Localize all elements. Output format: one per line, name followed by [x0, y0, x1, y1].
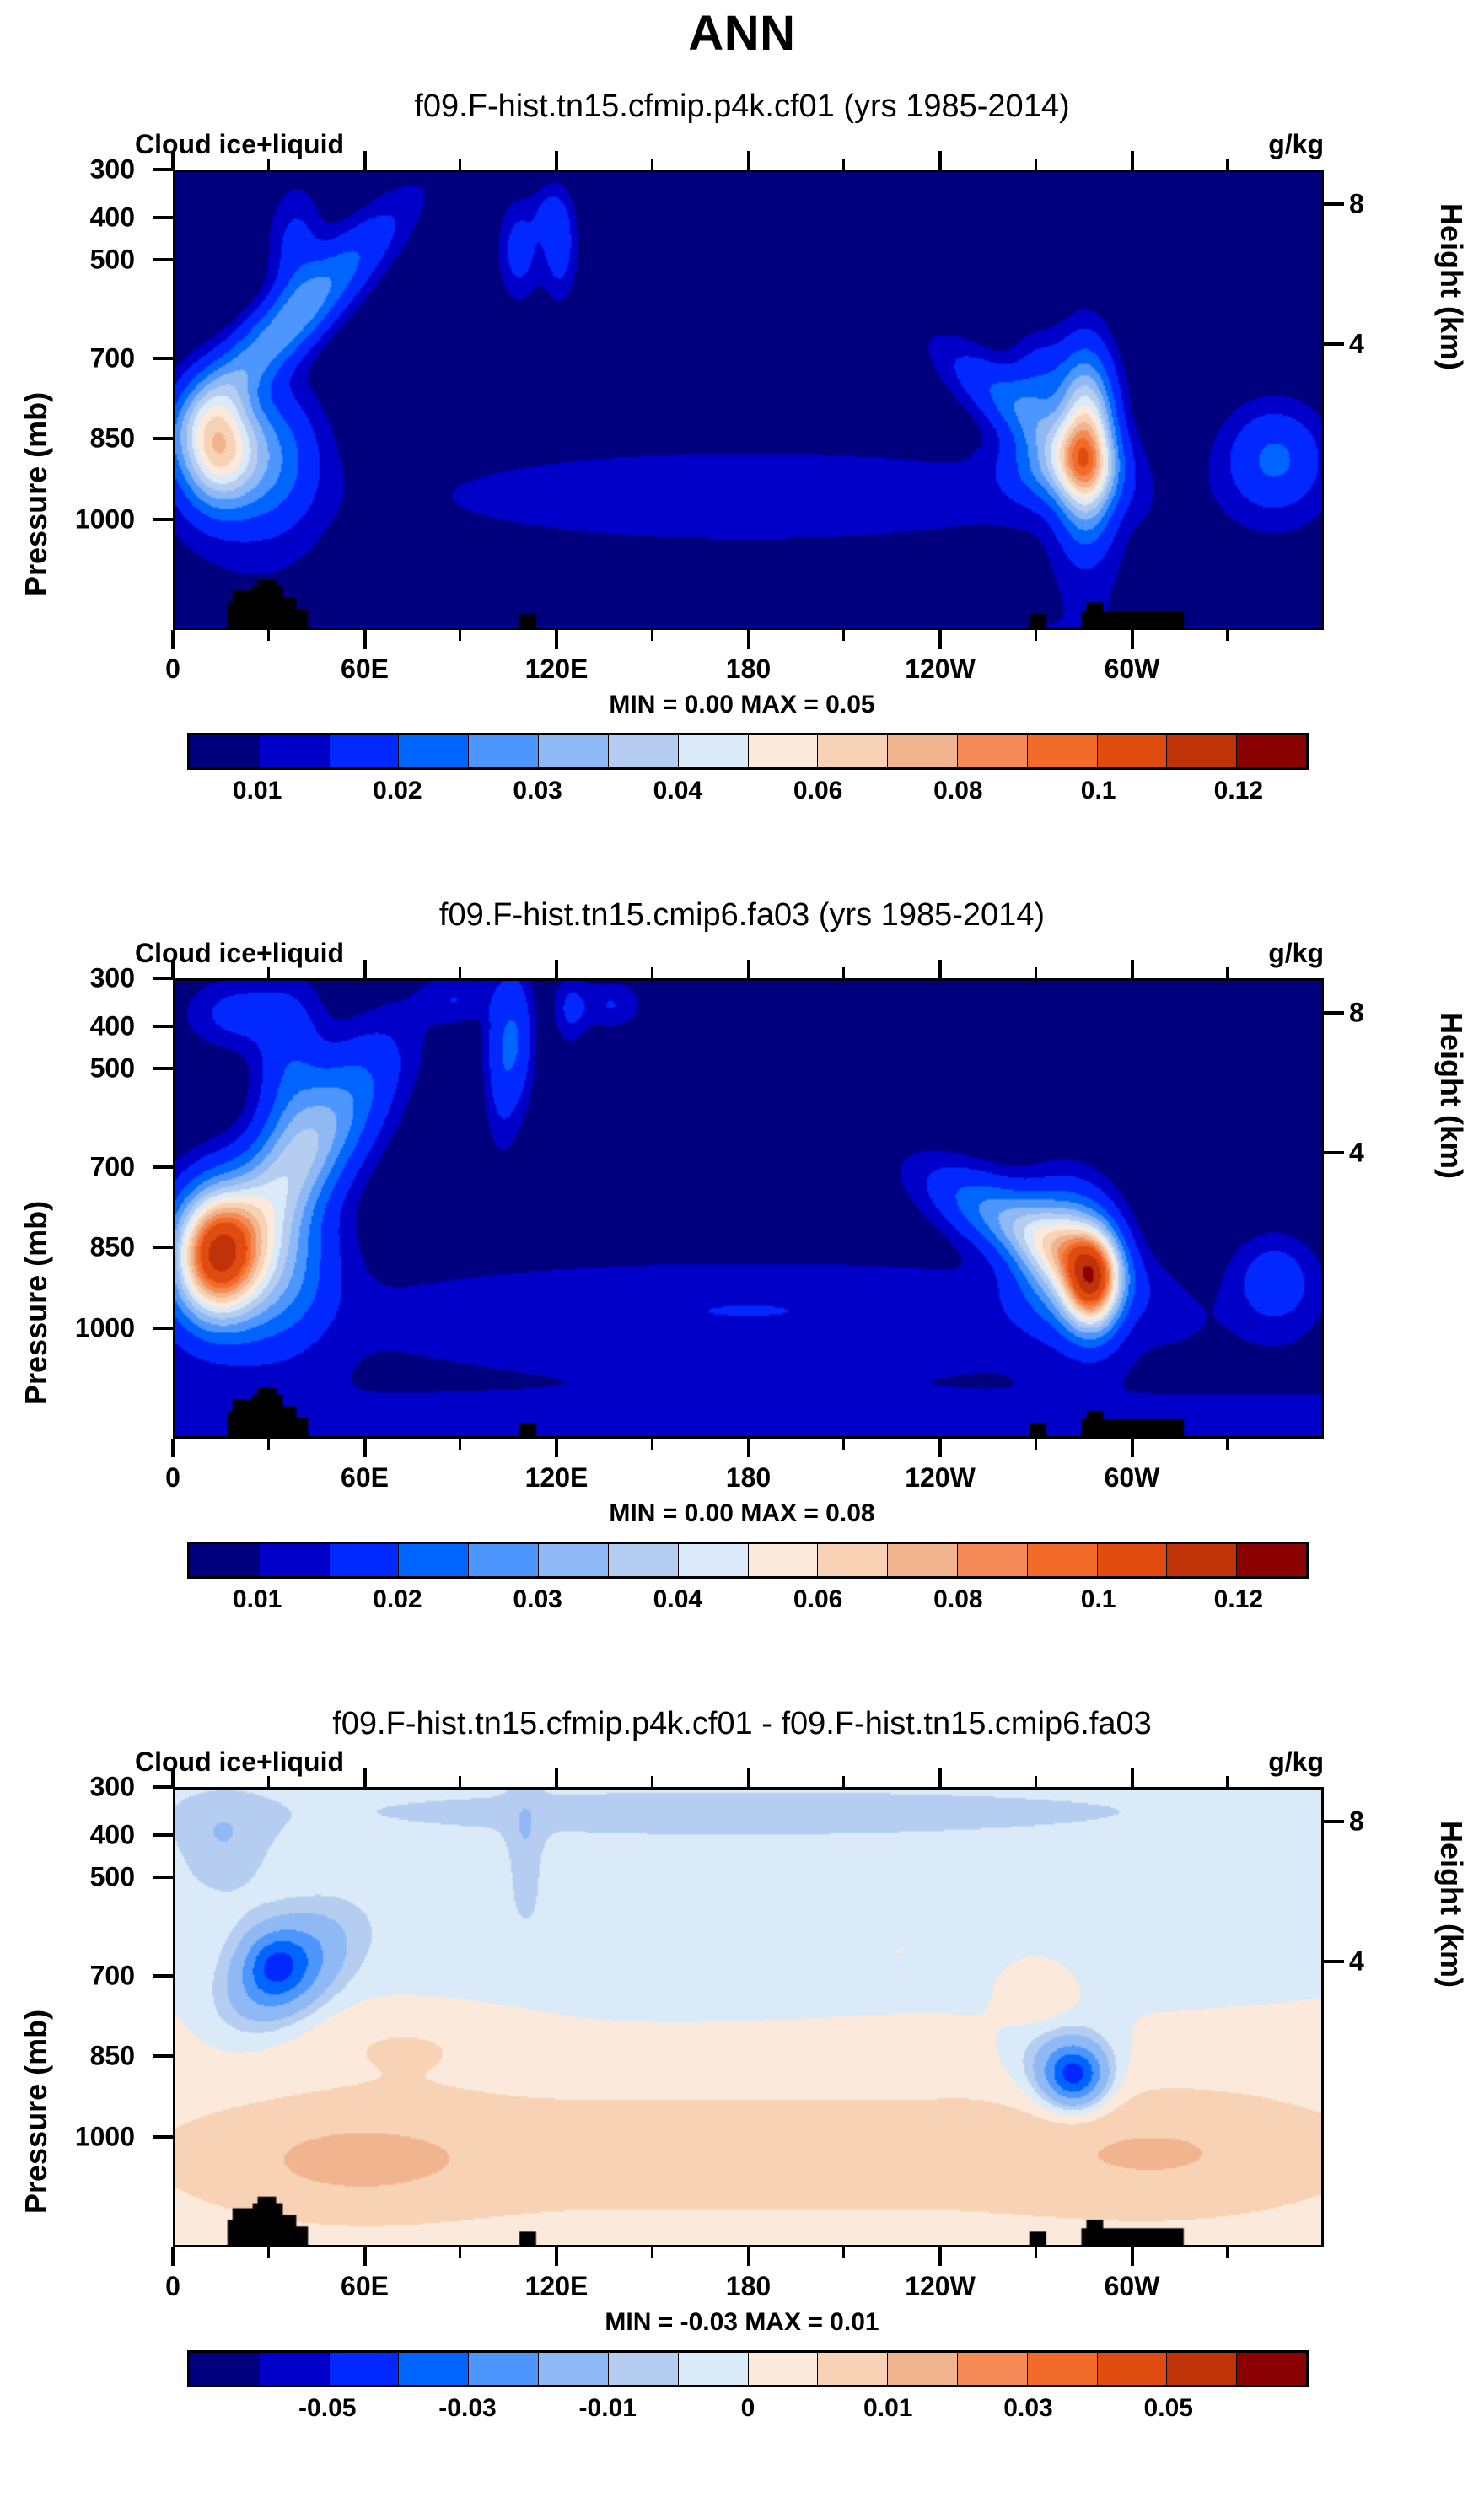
colorbar-tick-label: -0.01: [579, 2394, 637, 2423]
y2-tick-mark: [1324, 1151, 1344, 1154]
contour-plot: [173, 1787, 1324, 2247]
x-tick-mark: [938, 630, 942, 649]
y2-tick-mark: [1324, 1011, 1344, 1015]
y2-tick-mark: [1324, 202, 1344, 206]
x-tick-label: 180: [726, 654, 771, 685]
colorbar-segment: [1237, 1544, 1306, 1576]
y-tick-mark: [153, 1876, 173, 1879]
x-minor-tick-mark: [842, 630, 845, 641]
x-minor-tick-mark-top: [267, 159, 270, 170]
x-minor-tick-mark-top: [842, 159, 845, 170]
x-tick-label: 60W: [1105, 1462, 1160, 1493]
x-minor-tick-mark-top: [651, 967, 653, 978]
x-tick-label: 120W: [905, 2271, 976, 2302]
colorbar-segment: [1028, 2353, 1098, 2385]
colorbar-segment: [818, 735, 888, 767]
x-minor-tick-mark-top: [651, 1776, 653, 1787]
colorbar-segment: [1098, 735, 1168, 767]
colorbar-segment: [330, 2353, 400, 2385]
colorbar-segment: [958, 735, 1028, 767]
y-tick-label: 300: [34, 154, 135, 186]
x-tick-mark: [1131, 1439, 1134, 1457]
colorbar-tick-label: 0.06: [793, 777, 842, 805]
y-tick-mark: [153, 168, 173, 171]
colorbar-segment: [609, 2353, 679, 2385]
y-tick-label: 1000: [34, 1312, 135, 1343]
y-tick-mark: [153, 1833, 173, 1837]
y-tick-label: 850: [34, 2041, 135, 2072]
x-minor-tick-mark: [1035, 2247, 1037, 2258]
y2-tick-label: 4: [1349, 1138, 1450, 1169]
colorbar-segment: [958, 2353, 1028, 2385]
x-minor-tick-mark: [842, 2247, 845, 2258]
x-tick-label: 120E: [525, 1462, 589, 1493]
colorbar-segment: [399, 1544, 469, 1576]
x-minor-tick-mark: [267, 1439, 270, 1450]
y-tick-label: 1000: [34, 2121, 135, 2152]
x-tick-mark-top: [171, 960, 175, 978]
panel-title: f09.F-hist.tn15.cfmip.p4k.cf01 (yrs 1985…: [0, 89, 1484, 125]
colorbar-tick-label: 0.05: [1144, 2394, 1193, 2423]
x-minor-tick-mark: [267, 2247, 270, 2258]
colorbar-segment: [1237, 735, 1306, 767]
y-tick-label: 400: [34, 202, 135, 234]
y-tick-label: 500: [34, 1053, 135, 1084]
x-tick-label: 60E: [341, 654, 389, 685]
colorbar-tick-label: 0.12: [1214, 1585, 1263, 1614]
y-tick-label: 300: [34, 963, 135, 994]
y2-axis-title: Height (km): [1433, 1821, 1469, 2214]
colorbar-segment: [749, 2353, 819, 2385]
x-minor-tick-mark: [651, 630, 653, 641]
x-minor-tick-mark: [1226, 2247, 1229, 2258]
colorbar-segment: [469, 2353, 539, 2385]
x-minor-tick-mark: [651, 2247, 653, 2258]
y-tick-mark: [153, 1067, 173, 1070]
units-label: g/kg: [953, 938, 1324, 969]
x-tick-mark-top: [171, 151, 175, 170]
colorbar-tick-label: 0: [741, 2394, 755, 2423]
x-tick-mark-top: [1131, 1768, 1134, 1787]
x-tick-mark-top: [171, 1768, 175, 1787]
contour-plot: [173, 170, 1324, 630]
x-tick-mark: [555, 630, 558, 649]
colorbar-segment: [399, 2353, 469, 2385]
x-tick-mark: [1131, 2247, 1134, 2266]
colorbar-segment: [190, 1544, 260, 1576]
colorbar-segment: [1237, 2353, 1306, 2385]
colorbar-tick-label: 0.04: [653, 777, 702, 805]
colorbar-segment: [260, 2353, 330, 2385]
x-tick-label: 120W: [905, 1462, 976, 1493]
colorbar-tick-label: 0.08: [933, 777, 982, 805]
x-tick-mark-top: [938, 1768, 942, 1787]
x-tick-mark: [555, 1439, 558, 1457]
x-tick-label: 60W: [1105, 2271, 1160, 2302]
units-label: g/kg: [953, 129, 1324, 160]
x-minor-tick-mark-top: [459, 159, 461, 170]
x-minor-tick-mark: [1226, 1439, 1229, 1450]
colorbar-segment: [1028, 1544, 1098, 1576]
colorbar-segment: [679, 2353, 749, 2385]
y-tick-label: 850: [34, 423, 135, 455]
x-tick-label: 120E: [525, 2271, 589, 2302]
x-minor-tick-mark-top: [459, 967, 461, 978]
y-tick-mark: [153, 437, 173, 440]
colorbar-segment: [260, 1544, 330, 1576]
y-tick-mark: [153, 1327, 173, 1330]
colorbar: [187, 2350, 1309, 2387]
x-minor-tick-mark-top: [651, 159, 653, 170]
colorbar-tick-label: 0.01: [863, 2394, 912, 2423]
variable-label: Cloud ice+liquid: [135, 129, 344, 160]
y-tick-mark: [153, 977, 173, 980]
colorbar-tick-label: 0.02: [373, 777, 422, 805]
y2-tick-label: 4: [1349, 329, 1450, 360]
y-tick-mark: [153, 1246, 173, 1249]
colorbar-tick-label: 0.1: [1081, 777, 1116, 805]
colorbar-tick-label: 0.04: [653, 1585, 702, 1614]
colorbar-tick-label: 0.03: [1003, 2394, 1052, 2423]
colorbar-segment: [330, 1544, 400, 1576]
x-minor-tick-mark: [842, 1439, 845, 1450]
x-minor-tick-mark: [459, 1439, 461, 1450]
colorbar-segment: [1028, 735, 1098, 767]
x-tick-mark: [1131, 630, 1134, 649]
x-minor-tick-mark-top: [842, 967, 845, 978]
colorbar-segment: [469, 735, 539, 767]
colorbar-tick-label: 0.08: [933, 1585, 982, 1614]
x-tick-mark: [363, 2247, 367, 2266]
x-tick-mark: [171, 1439, 175, 1457]
x-tick-mark: [171, 630, 175, 649]
main-title: ANN: [0, 5, 1484, 62]
x-tick-label: 60E: [341, 1462, 389, 1493]
contour-canvas: [175, 1790, 1321, 2245]
x-tick-mark: [363, 1439, 367, 1457]
y-tick-mark: [153, 1165, 173, 1169]
y-tick-label: 500: [34, 1862, 135, 1893]
panel-title: f09.F-hist.tn15.cfmip.p4k.cf01 - f09.F-h…: [0, 1706, 1484, 1742]
y2-tick-mark: [1324, 1820, 1344, 1823]
y-tick-mark: [153, 2135, 173, 2139]
x-minor-tick-mark-top: [1035, 159, 1037, 170]
colorbar-segment: [888, 735, 958, 767]
y2-tick-label: 4: [1349, 1946, 1450, 1978]
y-tick-label: 1000: [34, 503, 135, 535]
x-minor-tick-mark-top: [1226, 1776, 1229, 1787]
minmax-label: MIN = 0.00 MAX = 0.05: [0, 691, 1484, 719]
x-tick-mark-top: [938, 960, 942, 978]
colorbar-segment: [330, 735, 400, 767]
colorbar-segment: [260, 735, 330, 767]
colorbar-segment: [190, 2353, 260, 2385]
y2-tick-label: 8: [1349, 188, 1450, 219]
y-tick-mark: [153, 357, 173, 360]
panel-title: f09.F-hist.tn15.cmip6.fa03 (yrs 1985-201…: [0, 897, 1484, 934]
colorbar-segment: [609, 1544, 679, 1576]
x-minor-tick-mark-top: [267, 1776, 270, 1787]
contour-canvas: [175, 172, 1321, 627]
contour-plot: [173, 978, 1324, 1439]
y-tick-label: 850: [34, 1232, 135, 1263]
x-minor-tick-mark: [1035, 1439, 1037, 1450]
colorbar-segment: [818, 1544, 888, 1576]
x-tick-label: 0: [165, 1462, 180, 1493]
y-tick-mark: [153, 258, 173, 261]
colorbar-tick-label: 0.02: [373, 1585, 422, 1614]
colorbar-segment: [1167, 1544, 1237, 1576]
x-tick-label: 60E: [341, 2271, 389, 2302]
x-minor-tick-mark: [459, 2247, 461, 2258]
x-tick-mark: [938, 1439, 942, 1457]
colorbar-segment: [1098, 1544, 1168, 1576]
colorbar-segment: [1167, 2353, 1237, 2385]
x-minor-tick-mark: [1226, 630, 1229, 641]
colorbar-segment: [958, 1544, 1028, 1576]
colorbar-tick-label: -0.03: [438, 2394, 496, 2423]
y-tick-mark: [153, 1785, 173, 1789]
x-minor-tick-mark: [651, 1439, 653, 1450]
x-tick-mark: [747, 630, 750, 649]
colorbar-segment: [679, 735, 749, 767]
x-minor-tick-mark-top: [459, 1776, 461, 1787]
x-tick-mark-top: [555, 1768, 558, 1787]
variable-label: Cloud ice+liquid: [135, 1746, 344, 1778]
colorbar-segment: [749, 735, 819, 767]
colorbar-segment: [749, 1544, 819, 1576]
colorbar-segment: [469, 1544, 539, 1576]
x-tick-mark-top: [747, 960, 750, 978]
x-minor-tick-mark-top: [1035, 967, 1037, 978]
x-tick-mark: [363, 630, 367, 649]
colorbar-segment: [190, 735, 260, 767]
colorbar-segment: [1098, 2353, 1168, 2385]
y2-axis-title: Height (km): [1433, 1012, 1469, 1405]
x-tick-label: 0: [165, 2271, 180, 2302]
y-tick-label: 700: [34, 1151, 135, 1182]
x-tick-mark-top: [555, 960, 558, 978]
colorbar-tick-label: 0.03: [513, 777, 562, 805]
colorbar-segment: [679, 1544, 749, 1576]
x-minor-tick-mark-top: [267, 967, 270, 978]
y-tick-label: 700: [34, 1960, 135, 1991]
x-tick-mark-top: [938, 151, 942, 170]
colorbar-segment: [818, 2353, 888, 2385]
x-tick-mark-top: [747, 151, 750, 170]
x-minor-tick-mark: [1035, 630, 1037, 641]
y-tick-label: 400: [34, 1820, 135, 1851]
y-tick-label: 700: [34, 342, 135, 374]
y2-tick-mark: [1324, 342, 1344, 346]
x-tick-mark-top: [1131, 151, 1134, 170]
x-tick-label: 60W: [1105, 654, 1160, 685]
y-tick-label: 300: [34, 1772, 135, 1803]
x-minor-tick-mark-top: [1035, 1776, 1037, 1787]
contour-canvas: [175, 981, 1321, 1436]
colorbar-tick-label: 0.01: [233, 1585, 282, 1614]
y2-tick-mark: [1324, 1960, 1344, 1963]
x-minor-tick-mark-top: [1226, 159, 1229, 170]
y-tick-label: 400: [34, 1011, 135, 1042]
units-label: g/kg: [953, 1746, 1324, 1778]
colorbar-tick-label: 0.03: [513, 1585, 562, 1614]
colorbar-tick-label: 0.06: [793, 1585, 842, 1614]
minmax-label: MIN = -0.03 MAX = 0.01: [0, 2308, 1484, 2337]
colorbar-tick-label: -0.05: [298, 2394, 356, 2423]
x-tick-label: 0: [165, 654, 180, 685]
y-tick-mark: [153, 1025, 173, 1028]
x-tick-label: 180: [726, 2271, 771, 2302]
y2-axis-title: Height (km): [1433, 203, 1469, 596]
x-tick-mark-top: [747, 1768, 750, 1787]
y-tick-label: 500: [34, 245, 135, 276]
x-tick-mark: [747, 1439, 750, 1457]
x-tick-label: 120W: [905, 654, 976, 685]
minmax-label: MIN = 0.00 MAX = 0.08: [0, 1499, 1484, 1528]
x-tick-label: 120E: [525, 654, 589, 685]
colorbar-segment: [609, 735, 679, 767]
colorbar-tick-label: 0.12: [1214, 777, 1263, 805]
x-tick-mark-top: [1131, 960, 1134, 978]
colorbar-segment: [888, 2353, 958, 2385]
colorbar-segment: [399, 735, 469, 767]
colorbar-segment: [888, 1544, 958, 1576]
y-tick-mark: [153, 2054, 173, 2058]
x-minor-tick-mark-top: [1226, 967, 1229, 978]
colorbar-tick-label: 0.01: [233, 777, 282, 805]
x-tick-mark-top: [555, 151, 558, 170]
colorbar-segment: [539, 2353, 609, 2385]
colorbar: [187, 733, 1309, 770]
y2-tick-label: 8: [1349, 1806, 1450, 1837]
x-tick-mark-top: [363, 1768, 367, 1787]
x-minor-tick-mark-top: [842, 1776, 845, 1787]
y-tick-mark: [153, 1974, 173, 1978]
x-minor-tick-mark: [267, 630, 270, 641]
x-tick-mark-top: [363, 960, 367, 978]
x-tick-mark: [171, 2247, 175, 2266]
y2-tick-label: 8: [1349, 997, 1450, 1028]
variable-label: Cloud ice+liquid: [135, 938, 344, 969]
x-tick-mark: [747, 2247, 750, 2266]
colorbar: [187, 1542, 1309, 1579]
x-tick-label: 180: [726, 1462, 771, 1493]
colorbar-segment: [539, 1544, 609, 1576]
y-tick-mark: [153, 518, 173, 521]
y-tick-mark: [153, 216, 173, 219]
colorbar-tick-label: 0.1: [1081, 1585, 1116, 1614]
colorbar-segment: [1167, 735, 1237, 767]
x-tick-mark-top: [363, 151, 367, 170]
x-tick-mark: [555, 2247, 558, 2266]
x-tick-mark: [938, 2247, 942, 2266]
x-minor-tick-mark: [459, 630, 461, 641]
colorbar-segment: [539, 735, 609, 767]
